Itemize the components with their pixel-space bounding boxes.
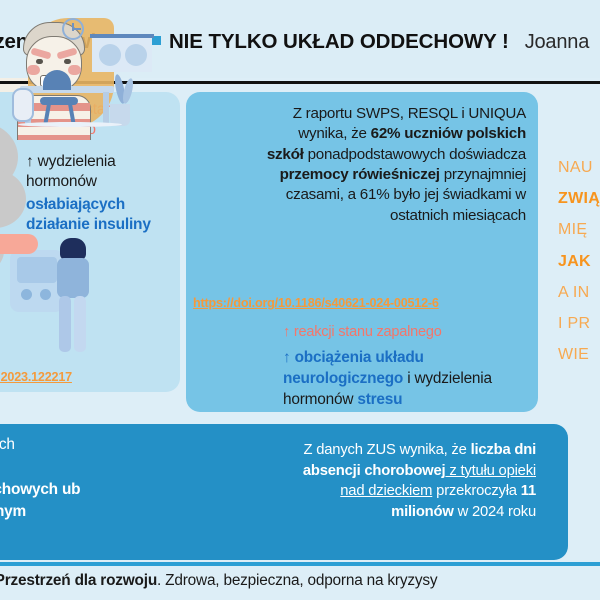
doi-link-left[interactable]: l.2023.122217 — [0, 370, 72, 384]
right-col-item-5: I PR — [558, 308, 600, 339]
zus-plain-3: w 2024 roku — [454, 504, 536, 520]
right-col-item-4: A IN — [558, 277, 600, 308]
right-heading-column: NAU ZWIĄ MIĘ JAK A IN I PR WIE — [558, 152, 600, 370]
report-panel-text: Z raportu SWPS, RESQL i UNIQUA wynika, ż… — [264, 104, 526, 226]
nurse-figure-illustration — [50, 238, 96, 356]
right-col-item-6: WIE — [558, 339, 600, 370]
footer-caption: rna „Przestrzeń dla rozwoju. Zdrowa, bez… — [0, 572, 600, 590]
doi-link-mid[interactable]: https://doi.org/10.1186/s40621-024-00512… — [193, 296, 523, 310]
child-eye-left — [36, 59, 43, 64]
right-col-item-1: ZWIĄ — [558, 183, 600, 214]
header-title-part2: NIE TYLKO UKŁAD ODDECHOWY ! — [169, 30, 509, 54]
footer-bold-1: Przestrzeń dla rozwoju — [0, 572, 157, 589]
dark-left-bold: dróg oddechowych ub nieokreślonym — [0, 481, 80, 520]
neuro-inflammation-line: ↑ reakcji stanu zapalnego — [283, 324, 533, 340]
child-eye-right — [64, 59, 71, 64]
right-col-item-2: MIĘ — [558, 214, 600, 245]
child-shirt-stripe-3 — [18, 135, 90, 140]
left-panel-line3: osłabiających działanie insuliny — [26, 195, 176, 236]
left-panel-line2: ↑ wydzielenia hormonów — [26, 152, 176, 193]
neuro-text: ↑ obciążenia układu neurologicznego i wy… — [283, 348, 536, 411]
child-cheek-left — [27, 65, 40, 75]
right-col-item-0: NAU — [558, 152, 600, 183]
footer-divider — [0, 562, 600, 566]
zus-plain-1: Z danych ZUS wynika, że — [304, 442, 471, 458]
child-cheek-right — [68, 65, 81, 75]
zus-statistics-text: Z danych ZUS wynika, że liczba dni absen… — [282, 440, 536, 523]
neuro-bold-2: stresu — [357, 391, 402, 408]
glucose-meter-button-left — [21, 289, 32, 300]
medical-certificates-text: zeń lekarskich z powodu dróg oddechowych… — [0, 434, 190, 523]
right-col-item-3: JAK — [558, 246, 600, 277]
arm-illustration — [0, 234, 38, 254]
footer-plain-2: . Zdrowa, bezpieczna, odporna na kryzysy — [157, 572, 437, 589]
header-author: Joanna — [525, 31, 589, 54]
report-text-plain-2: ponadpodstawowych doświadcza — [304, 146, 526, 163]
dark-left-plain-1: zeń lekarskich — [0, 436, 15, 453]
zus-plain-2: przekroczyła — [432, 483, 520, 499]
report-text-bold-2: przemocy rówieśniczej — [280, 166, 440, 183]
slide-canvas: szczenia powietrza NIE TYLKO UKŁAD ODDEC… — [0, 0, 600, 600]
